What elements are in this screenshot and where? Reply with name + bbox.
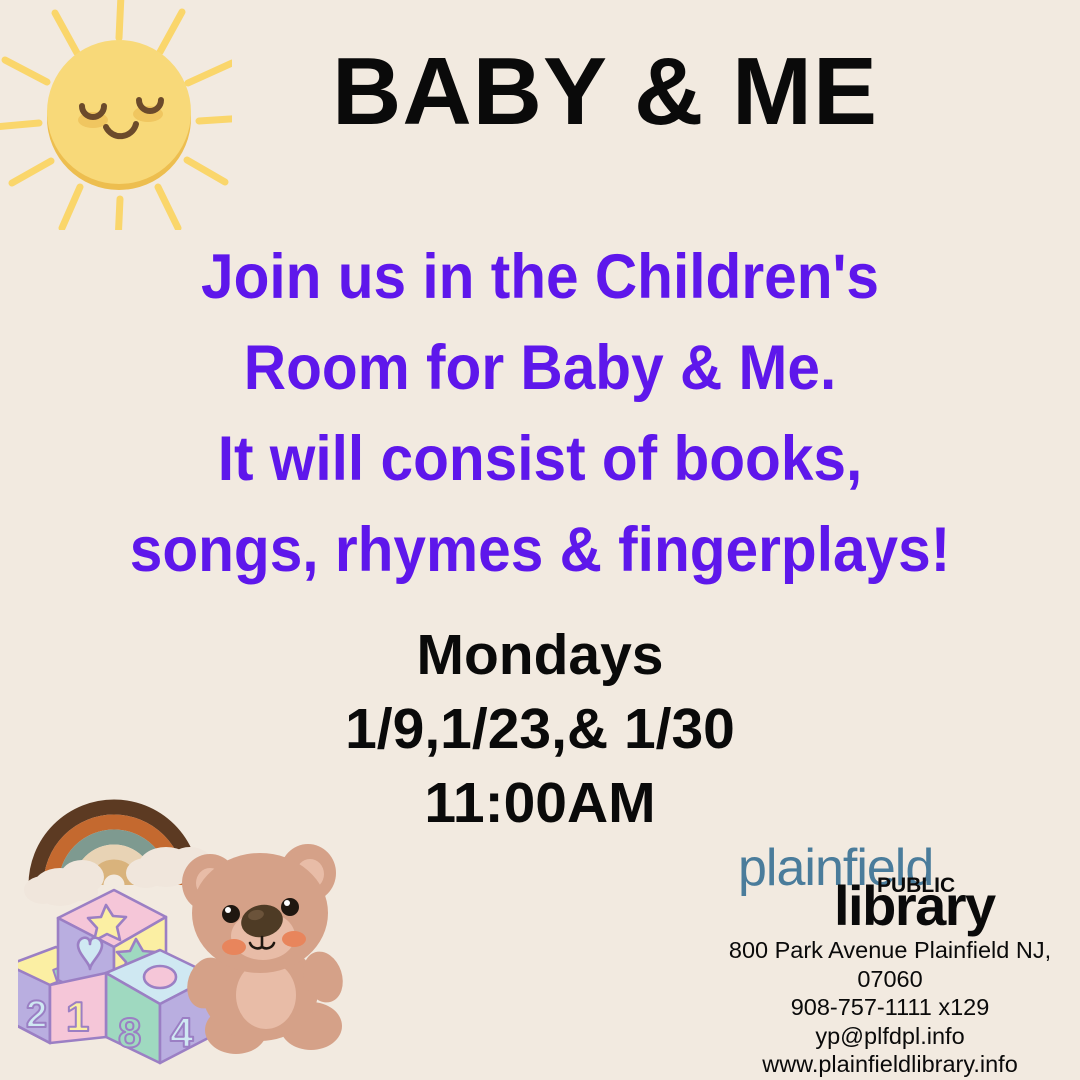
block-digit-4: 4 bbox=[170, 1009, 194, 1056]
contact-email[interactable]: yp@plfdpl.info bbox=[700, 1022, 1080, 1051]
poster-title: BABY & ME bbox=[0, 42, 1080, 143]
library-logo: plainfield library PUBLIC bbox=[700, 842, 1080, 934]
bear-eye-left bbox=[222, 905, 240, 923]
alphabet-blocks-icon: 2 5 8 bbox=[18, 890, 214, 1063]
body-line-1: Join us in the Children's bbox=[38, 232, 1042, 323]
bear-eye-right bbox=[281, 898, 299, 916]
schedule-dates: 1/9,1/23,& 1/30 bbox=[0, 692, 1080, 766]
block-digit-8: 8 bbox=[118, 1009, 141, 1056]
body-line-2: Room for Baby & Me. bbox=[38, 323, 1042, 414]
bear-cheek-left bbox=[222, 939, 246, 955]
logo-word-public: PUBLIC bbox=[877, 875, 955, 896]
block-digit-1: 1 bbox=[66, 993, 89, 1040]
poster-canvas: BABY & ME Join us in the Children's Room… bbox=[0, 0, 1080, 1080]
block-digit-2: 2 bbox=[26, 994, 47, 1036]
library-logo-block: plainfield library PUBLIC 800 Park Avenu… bbox=[700, 842, 1080, 1079]
body-line-4: songs, rhymes & fingerplays! bbox=[38, 505, 1042, 596]
toys-illustration: 2 5 8 bbox=[18, 795, 388, 1080]
block-digit-0 bbox=[144, 966, 176, 988]
body-line-3: It will consist of books, bbox=[38, 414, 1042, 505]
contact-website[interactable]: www.plainfieldlibrary.info bbox=[700, 1050, 1080, 1079]
contact-phone: 908-757-1111 x129 bbox=[700, 993, 1080, 1022]
contact-zip: 07060 bbox=[700, 965, 1080, 994]
poster-body-text: Join us in the Children's Room for Baby … bbox=[38, 232, 1042, 596]
block-front: 1 bbox=[50, 973, 106, 1043]
contact-address: 800 Park Avenue Plainfield NJ, bbox=[700, 936, 1080, 965]
contact-info: 800 Park Avenue Plainfield NJ, 07060 908… bbox=[700, 936, 1080, 1079]
bear-cheek-right bbox=[282, 931, 306, 947]
schedule-day: Mondays bbox=[0, 618, 1080, 692]
